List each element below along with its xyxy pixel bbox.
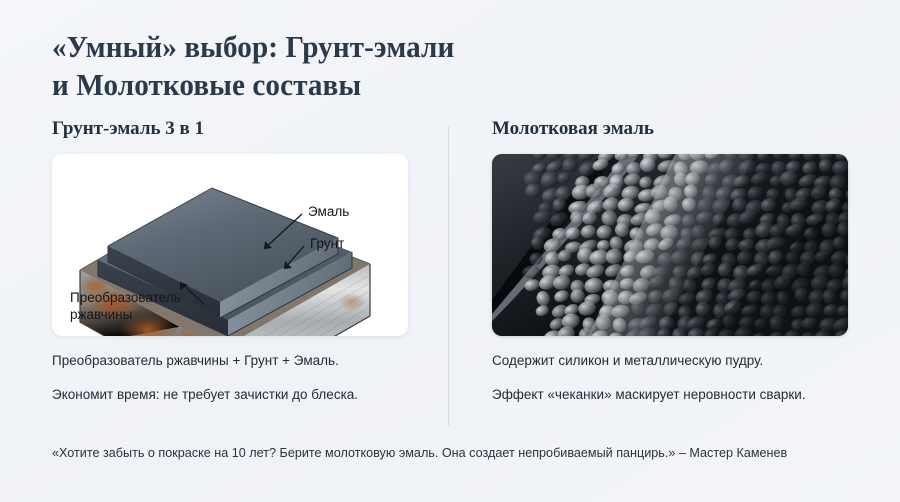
page-title: «Умный» выбор: Грунт-эмали и Молотковые … [52,28,792,104]
hammered-enamel-photo [492,154,848,336]
column-heading-left: Грунт-эмаль 3 в 1 [52,118,448,140]
bullets-left: Преобразователь ржавчины + Грунт + Эмаль… [52,352,448,404]
label-converter-line2: ржавчины [70,307,132,322]
overall-tone [492,154,848,336]
columns-container: Грунт-эмаль 3 в 1 [0,118,900,428]
bullet-left-2: Экономит время: не требует зачистки до б… [52,386,448,404]
page-title-line-2: и Молотковые составы [52,66,748,104]
label-primer: Грунт [310,236,344,251]
footer-quote: «Хотите забыть о покраске на 10 лет? Бер… [52,444,847,461]
column-heading-right: Молотковая эмаль [492,118,888,140]
bullets-right: Содержит силикон и металлическую пудру. … [492,352,888,404]
coating-layers-svg: Эмаль Грунт Преобразователь ржавчины [52,154,408,336]
page-title-line-1: «Умный» выбор: Грунт-эмали [52,28,748,66]
column-primer-enamel: Грунт-эмаль 3 в 1 [52,118,448,404]
bullet-left-1: Преобразователь ржавчины + Грунт + Эмаль… [52,352,448,370]
label-enamel: Эмаль [308,204,349,219]
bullet-right-1: Содержит силикон и металлическую пудру. [492,352,888,370]
label-converter-line1: Преобразователь [70,290,181,305]
coating-layers-diagram: Эмаль Грунт Преобразователь ржавчины [52,154,408,336]
bullet-right-2: Эффект «чеканки» маскирует неровности св… [492,386,888,404]
column-hammer-enamel: Молотковая эмаль [492,118,888,404]
slide-root: «Умный» выбор: Грунт-эмали и Молотковые … [0,0,900,502]
column-divider [448,126,449,426]
hammered-texture-svg [492,154,848,336]
